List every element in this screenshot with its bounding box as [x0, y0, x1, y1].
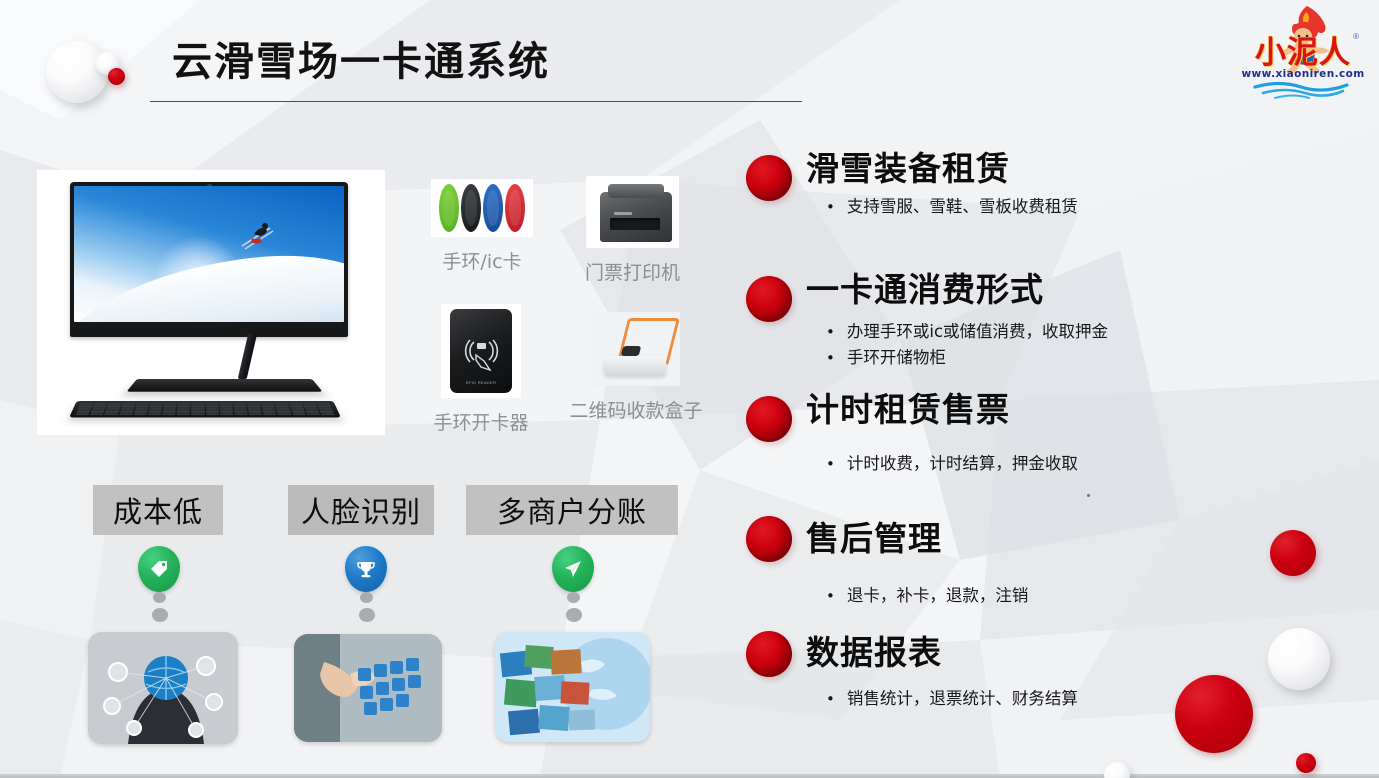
feature-label-2: 多商户分账: [466, 485, 678, 535]
rfid-wave-icon: [461, 339, 501, 373]
blue-wave-icon: [1237, 79, 1369, 99]
pin-tail-dot: [567, 592, 580, 603]
touch-interface-photo: [294, 634, 442, 742]
page-title: 云滑雪场一卡通系统: [172, 42, 550, 82]
bottom-right-large-red-circle: [1175, 675, 1253, 753]
pin-tail-dot: [360, 592, 373, 603]
qr-scanner-head: [621, 346, 641, 356]
registered-mark-icon: ®: [1353, 32, 1359, 41]
media-collage-photo: [495, 632, 650, 742]
wristband-icon: [431, 179, 533, 237]
footer-divider: [0, 774, 1379, 778]
bullet-marker-0: [746, 155, 792, 201]
monitor-bezel: [70, 182, 348, 337]
feature-label-1: 人脸识别: [288, 485, 434, 535]
monitor-stand-neck: [238, 333, 258, 379]
monitor-stand-base: [126, 379, 322, 392]
wristband-blue: [483, 184, 503, 232]
skier-icon: [236, 216, 280, 252]
wristband-red: [505, 184, 525, 232]
wristband-green: [439, 184, 459, 232]
bullet-sub-3-0: 退卡，补卡，退款，注销: [826, 588, 1028, 605]
global-network-photo: [88, 632, 238, 744]
qr-box-base: [604, 356, 666, 376]
bottom-right-sphere: [1268, 628, 1330, 690]
feature-label-0: 成本低: [93, 485, 223, 535]
bullet-sub-2-0: 计时收费，计时结算，押金收取: [826, 456, 1078, 473]
device-card-reader: RFID READER 手环开卡器: [441, 304, 521, 398]
logo-wordmark: 小泥人: [1237, 38, 1369, 69]
keyboard-photo: [69, 401, 341, 417]
bullet-title-2: 计时租赁售票: [806, 393, 1010, 426]
snow-slope-graphic: [74, 242, 344, 322]
bullet-title-1: 一卡通消费形式: [806, 273, 1044, 306]
device-label: 手环/ic卡: [421, 247, 543, 274]
printer-indicator: [614, 212, 632, 215]
trophy-glyph-icon: [357, 560, 375, 579]
wristband-black: [461, 184, 481, 232]
top-left-large-sphere: [46, 41, 108, 103]
mid-right-red-circle: [1270, 530, 1316, 576]
ticket-printer-icon: [586, 176, 679, 248]
printer-body: [600, 192, 672, 242]
printer-lid: [608, 184, 664, 198]
device-label: 手环开卡器: [413, 408, 549, 435]
title-underline: [150, 101, 802, 102]
reader-body: RFID READER: [450, 309, 512, 393]
card-reader-icon: RFID READER: [441, 304, 521, 398]
bullet-title-0: 滑雪装备租赁: [806, 152, 1010, 185]
bullet-marker-3: [746, 516, 792, 562]
slide-canvas: 云滑雪场一卡通系统 小泥人 ® www.xiaoniren.com: [0, 0, 1379, 778]
bullet-marker-1: [746, 276, 792, 322]
top-left-red-dot: [108, 68, 125, 85]
pin-tail-dot: [152, 608, 168, 622]
stray-dot-artifact: [1087, 494, 1090, 497]
feature-photo-1: [294, 634, 442, 742]
send-glyph-icon: [563, 559, 583, 579]
bullet-title-3: 售后管理: [806, 522, 942, 555]
bottom-right-tiny-red-dot: [1296, 753, 1316, 773]
pin-tail-dot: [153, 592, 166, 603]
feature-photo-0: [88, 632, 238, 744]
all-in-one-computer-photo: [37, 170, 385, 435]
bullet-marker-2: [746, 396, 792, 442]
tag-glyph-icon: [149, 559, 169, 579]
qr-payment-box-icon: [592, 312, 680, 386]
printer-paper-slot: [610, 218, 660, 230]
monitor-screen: [74, 186, 344, 322]
bullet-sub-0-0: 支持雪服、雪鞋、雪板收费租赁: [826, 199, 1078, 216]
device-label: 二维码收款盒子: [557, 396, 715, 423]
bullet-sub-4-0: 销售统计，退票统计、财务结算: [826, 691, 1078, 708]
bullet-title-4: 数据报表: [806, 636, 942, 669]
bullet-sub-1-0: 办理手环或ic或储值消费，收取押金: [826, 324, 1108, 341]
bullet-marker-4: [746, 631, 792, 677]
brand-logo[interactable]: 小泥人 ® www.xiaoniren.com: [1237, 4, 1369, 100]
device-wristband: 手环/ic卡: [431, 179, 533, 237]
pin-tail-dot: [566, 608, 582, 622]
bullet-sub-1-1: 手环开储物柜: [826, 350, 946, 367]
reader-brand-text: RFID READER: [450, 380, 512, 385]
device-ticket-printer: 门票打印机: [586, 176, 679, 248]
feature-photo-2: [495, 632, 650, 742]
pin-tail-dot: [359, 608, 375, 622]
device-label: 门票打印机: [571, 258, 694, 285]
device-qr-payment-box: 二维码收款盒子: [592, 312, 680, 386]
